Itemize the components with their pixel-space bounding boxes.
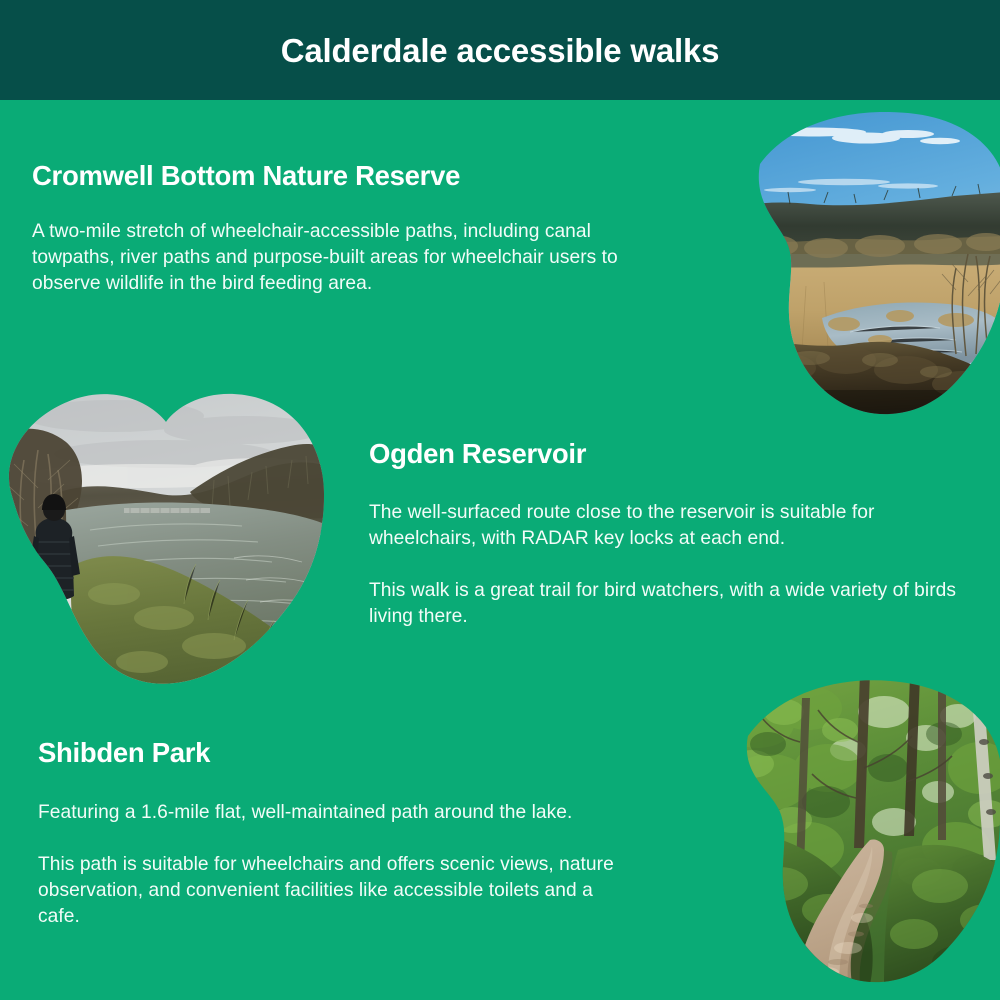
section-title-cromwell-bottom: Cromwell Bottom Nature Reserve <box>32 160 632 192</box>
page-title: Calderdale accessible walks <box>281 34 720 67</box>
section-paragraph: This walk is a great trail for bird watc… <box>369 578 969 630</box>
section-paragraph: Featuring a 1.6-mile flat, well-maintain… <box>38 800 638 826</box>
section-ogden-reservoir: Ogden Reservoir The well-surfaced route … <box>369 438 969 630</box>
section-shibden-park: Shibden Park Featuring a 1.6-mile flat, … <box>38 737 638 930</box>
cromwell-bottom-wetland-photo <box>694 104 1000 416</box>
section-cromwell-bottom: Cromwell Bottom Nature Reserve A two-mil… <box>32 160 632 297</box>
section-paragraph: A two-mile stretch of wheelchair-accessi… <box>32 219 632 297</box>
section-title-ogden-reservoir: Ogden Reservoir <box>369 438 969 470</box>
page-header: Calderdale accessible walks <box>0 0 1000 100</box>
ogden-reservoir-photo <box>0 368 334 690</box>
section-paragraph: This path is suitable for wheelchairs an… <box>38 852 638 930</box>
section-title-shibden-park: Shibden Park <box>38 737 638 769</box>
section-paragraph: The well-surfaced route close to the res… <box>369 500 969 552</box>
shibden-park-woodland-path-photo <box>688 672 1000 984</box>
